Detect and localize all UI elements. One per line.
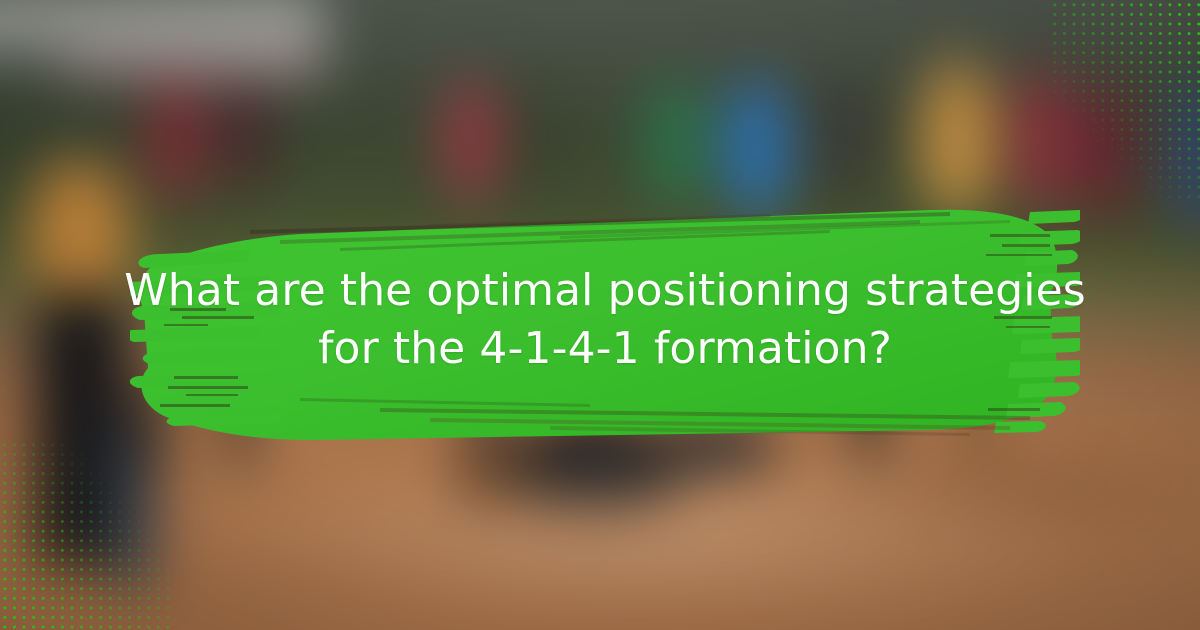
- headline-line-2: for the 4-1-4-1 formation?: [318, 320, 892, 378]
- headline-line-1: What are the optimal positioning strateg…: [124, 262, 1086, 320]
- page-title: What are the optimal positioning strateg…: [130, 190, 1080, 450]
- question-card: What are the optimal positioning strateg…: [0, 0, 1200, 630]
